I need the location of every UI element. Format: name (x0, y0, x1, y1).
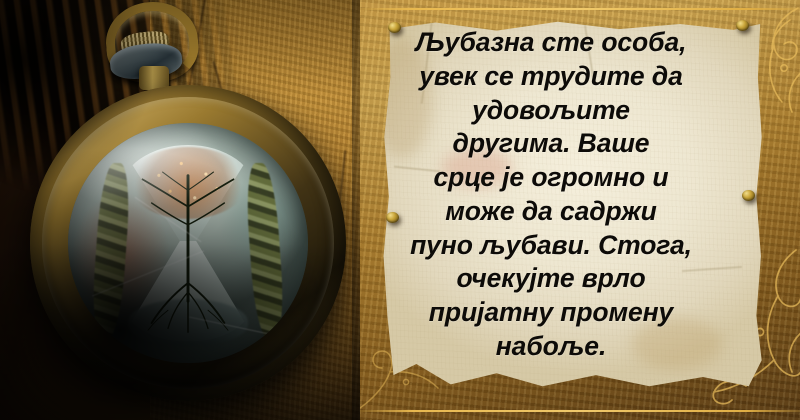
photo-vignette (0, 0, 372, 420)
tack-top-left (388, 22, 401, 33)
gold-horizontal-rule-bottom (360, 410, 800, 412)
tack-middle-left (386, 212, 399, 223)
quote-panel: Љубазна сте особа, увек се трудите да уд… (360, 0, 800, 420)
tack-middle-right (742, 190, 755, 201)
gold-horizontal-rule-top (360, 8, 800, 10)
quote-graphic: Љубазна сте особа, увек се трудите да уд… (0, 0, 800, 420)
pocket-watch-photo (0, 0, 372, 420)
tack-top-right (736, 20, 749, 31)
quote-text: Љубазна сте особа, увек се трудите да уд… (386, 26, 716, 364)
